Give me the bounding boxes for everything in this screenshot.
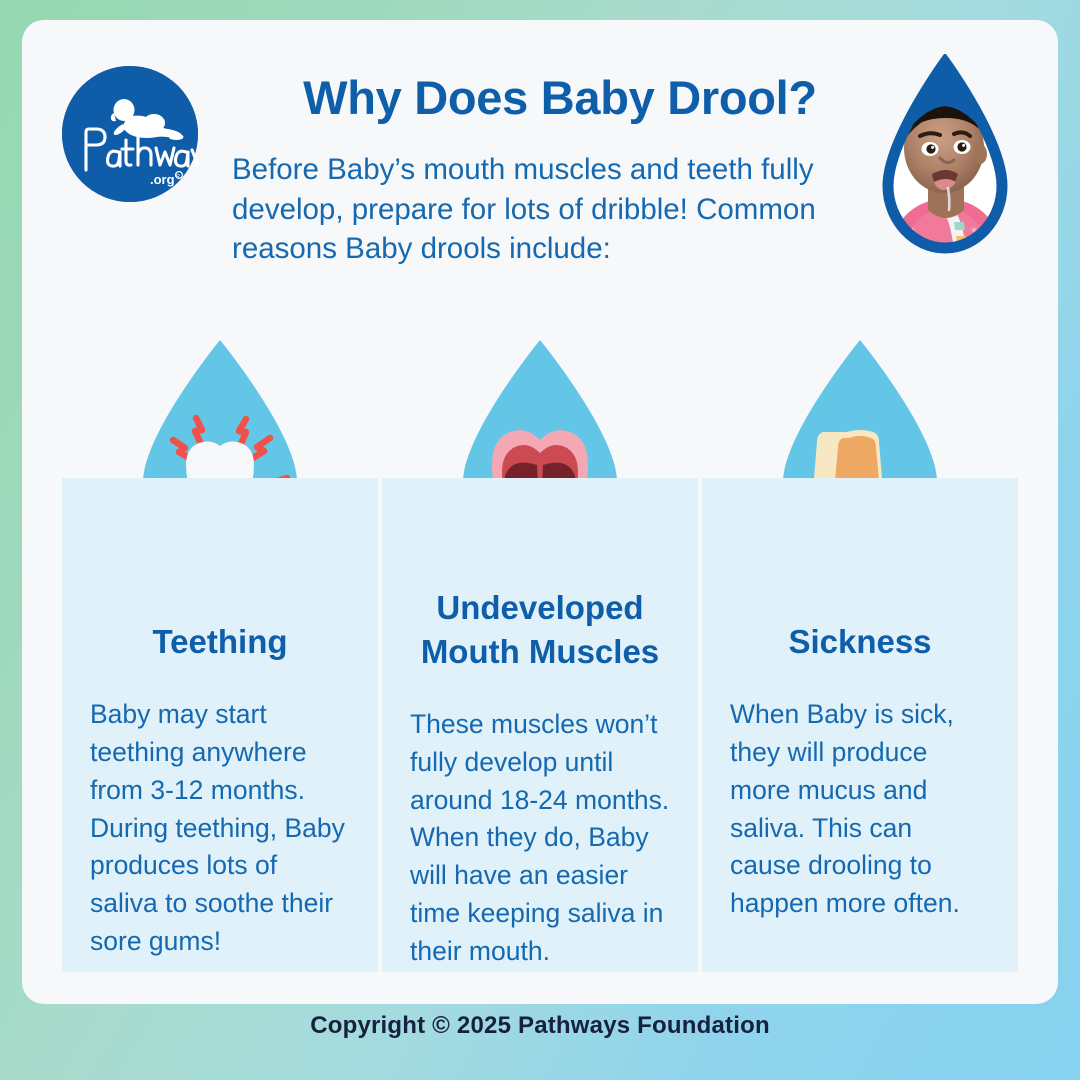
column-text-row: Teething Baby may start teething anywher… (62, 580, 1018, 971)
column-body: When Baby is sick, they will produce mor… (730, 664, 990, 923)
column-heading: Teething (90, 580, 350, 664)
column-mouth-muscles: Undeveloped Mouth Muscles These muscles … (382, 580, 698, 971)
column-body: These muscles won’t fully develop until … (410, 674, 670, 971)
svg-text:.org: .org (150, 172, 175, 187)
column-teething: Teething Baby may start teething anywher… (62, 580, 378, 971)
infographic-poster: .org R Why Does Baby Drool? Before Baby’… (0, 0, 1080, 1080)
svg-text:R: R (176, 174, 180, 180)
content-card: .org R Why Does Baby Drool? Before Baby’… (22, 20, 1058, 1004)
baby-photo-droplet (870, 54, 1020, 274)
column-body: Baby may start teething anywhere from 3-… (90, 664, 350, 961)
pathways-org-logo[interactable]: .org R (62, 66, 198, 202)
column-sickness: Sickness When Baby is sick, they will pr… (702, 580, 1018, 971)
column-heading: Sickness (730, 580, 990, 664)
page-title: Why Does Baby Drool? (230, 72, 890, 124)
column-heading: Undeveloped Mouth Muscles (410, 580, 670, 674)
copyright-footer: Copyright © 2025 Pathways Foundation (0, 1012, 1080, 1040)
page-subtitle: Before Baby’s mouth muscles and teeth fu… (232, 150, 832, 269)
